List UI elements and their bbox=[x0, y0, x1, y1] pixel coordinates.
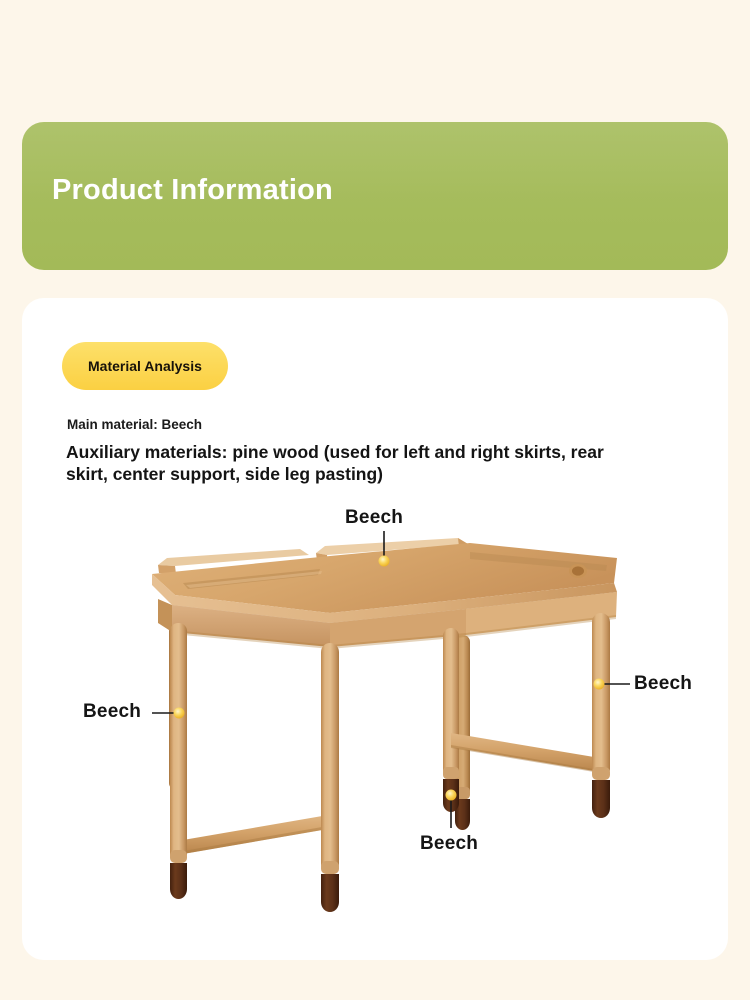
main-material-text: Main material: Beech bbox=[67, 417, 202, 432]
page-title: Product Information bbox=[52, 174, 333, 207]
apron-knob-icon bbox=[569, 564, 587, 578]
product-information-banner: Product Information bbox=[22, 122, 728, 270]
material-analysis-badge: Material Analysis bbox=[62, 342, 228, 390]
right-stretcher-bar bbox=[451, 733, 600, 773]
callout-label-right: Beech bbox=[634, 673, 692, 695]
front-right-leg bbox=[592, 613, 610, 818]
callout-label-top: Beech bbox=[345, 507, 403, 529]
product-information-page: Product Information Material Analysis Ma… bbox=[0, 0, 750, 1000]
callout-label-left: Beech bbox=[83, 701, 141, 723]
auxiliary-material-text: Auxiliary materials: pine wood (used for… bbox=[66, 441, 626, 486]
front-left-leg bbox=[321, 643, 339, 912]
rear-mid-leg bbox=[443, 628, 459, 812]
callout-label-bottom: Beech bbox=[420, 833, 478, 855]
rear-left-leg-full bbox=[170, 623, 187, 899]
left-stretcher-bar bbox=[183, 815, 328, 854]
